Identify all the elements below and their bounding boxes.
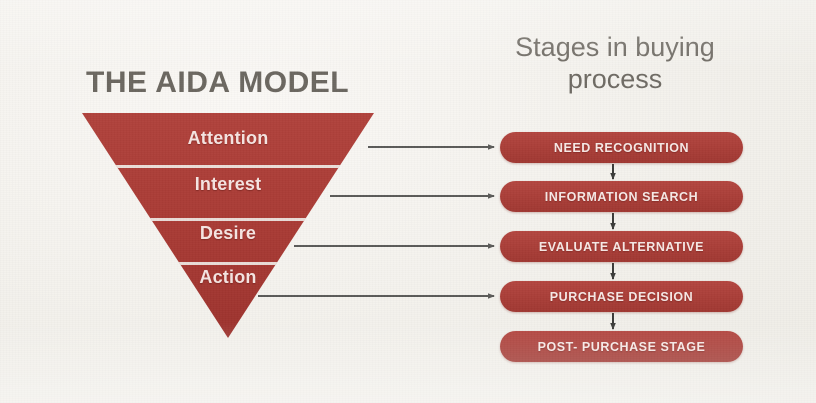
aida-funnel [80,112,376,342]
stage-box-need-recognition: NEED RECOGNITION [500,132,743,163]
stages-heading: Stages in buying process [470,32,760,96]
slide-canvas: THE AIDA MODEL Stages in buying process [0,0,816,403]
stages-heading-line2: process [470,64,760,96]
stage-box-evaluate-alternative: EVALUATE ALTERNATIVE [500,231,743,262]
funnel-body [82,113,374,338]
stage-box-purchase-decision: PURCHASE DECISION [500,281,743,312]
aida-model-title: THE AIDA MODEL [86,66,349,100]
stage-box-information-search: INFORMATION SEARCH [500,181,743,212]
stage-box-post-purchase-stage: POST- PURCHASE STAGE [500,331,743,362]
stages-heading-line1: Stages in buying [470,32,760,64]
